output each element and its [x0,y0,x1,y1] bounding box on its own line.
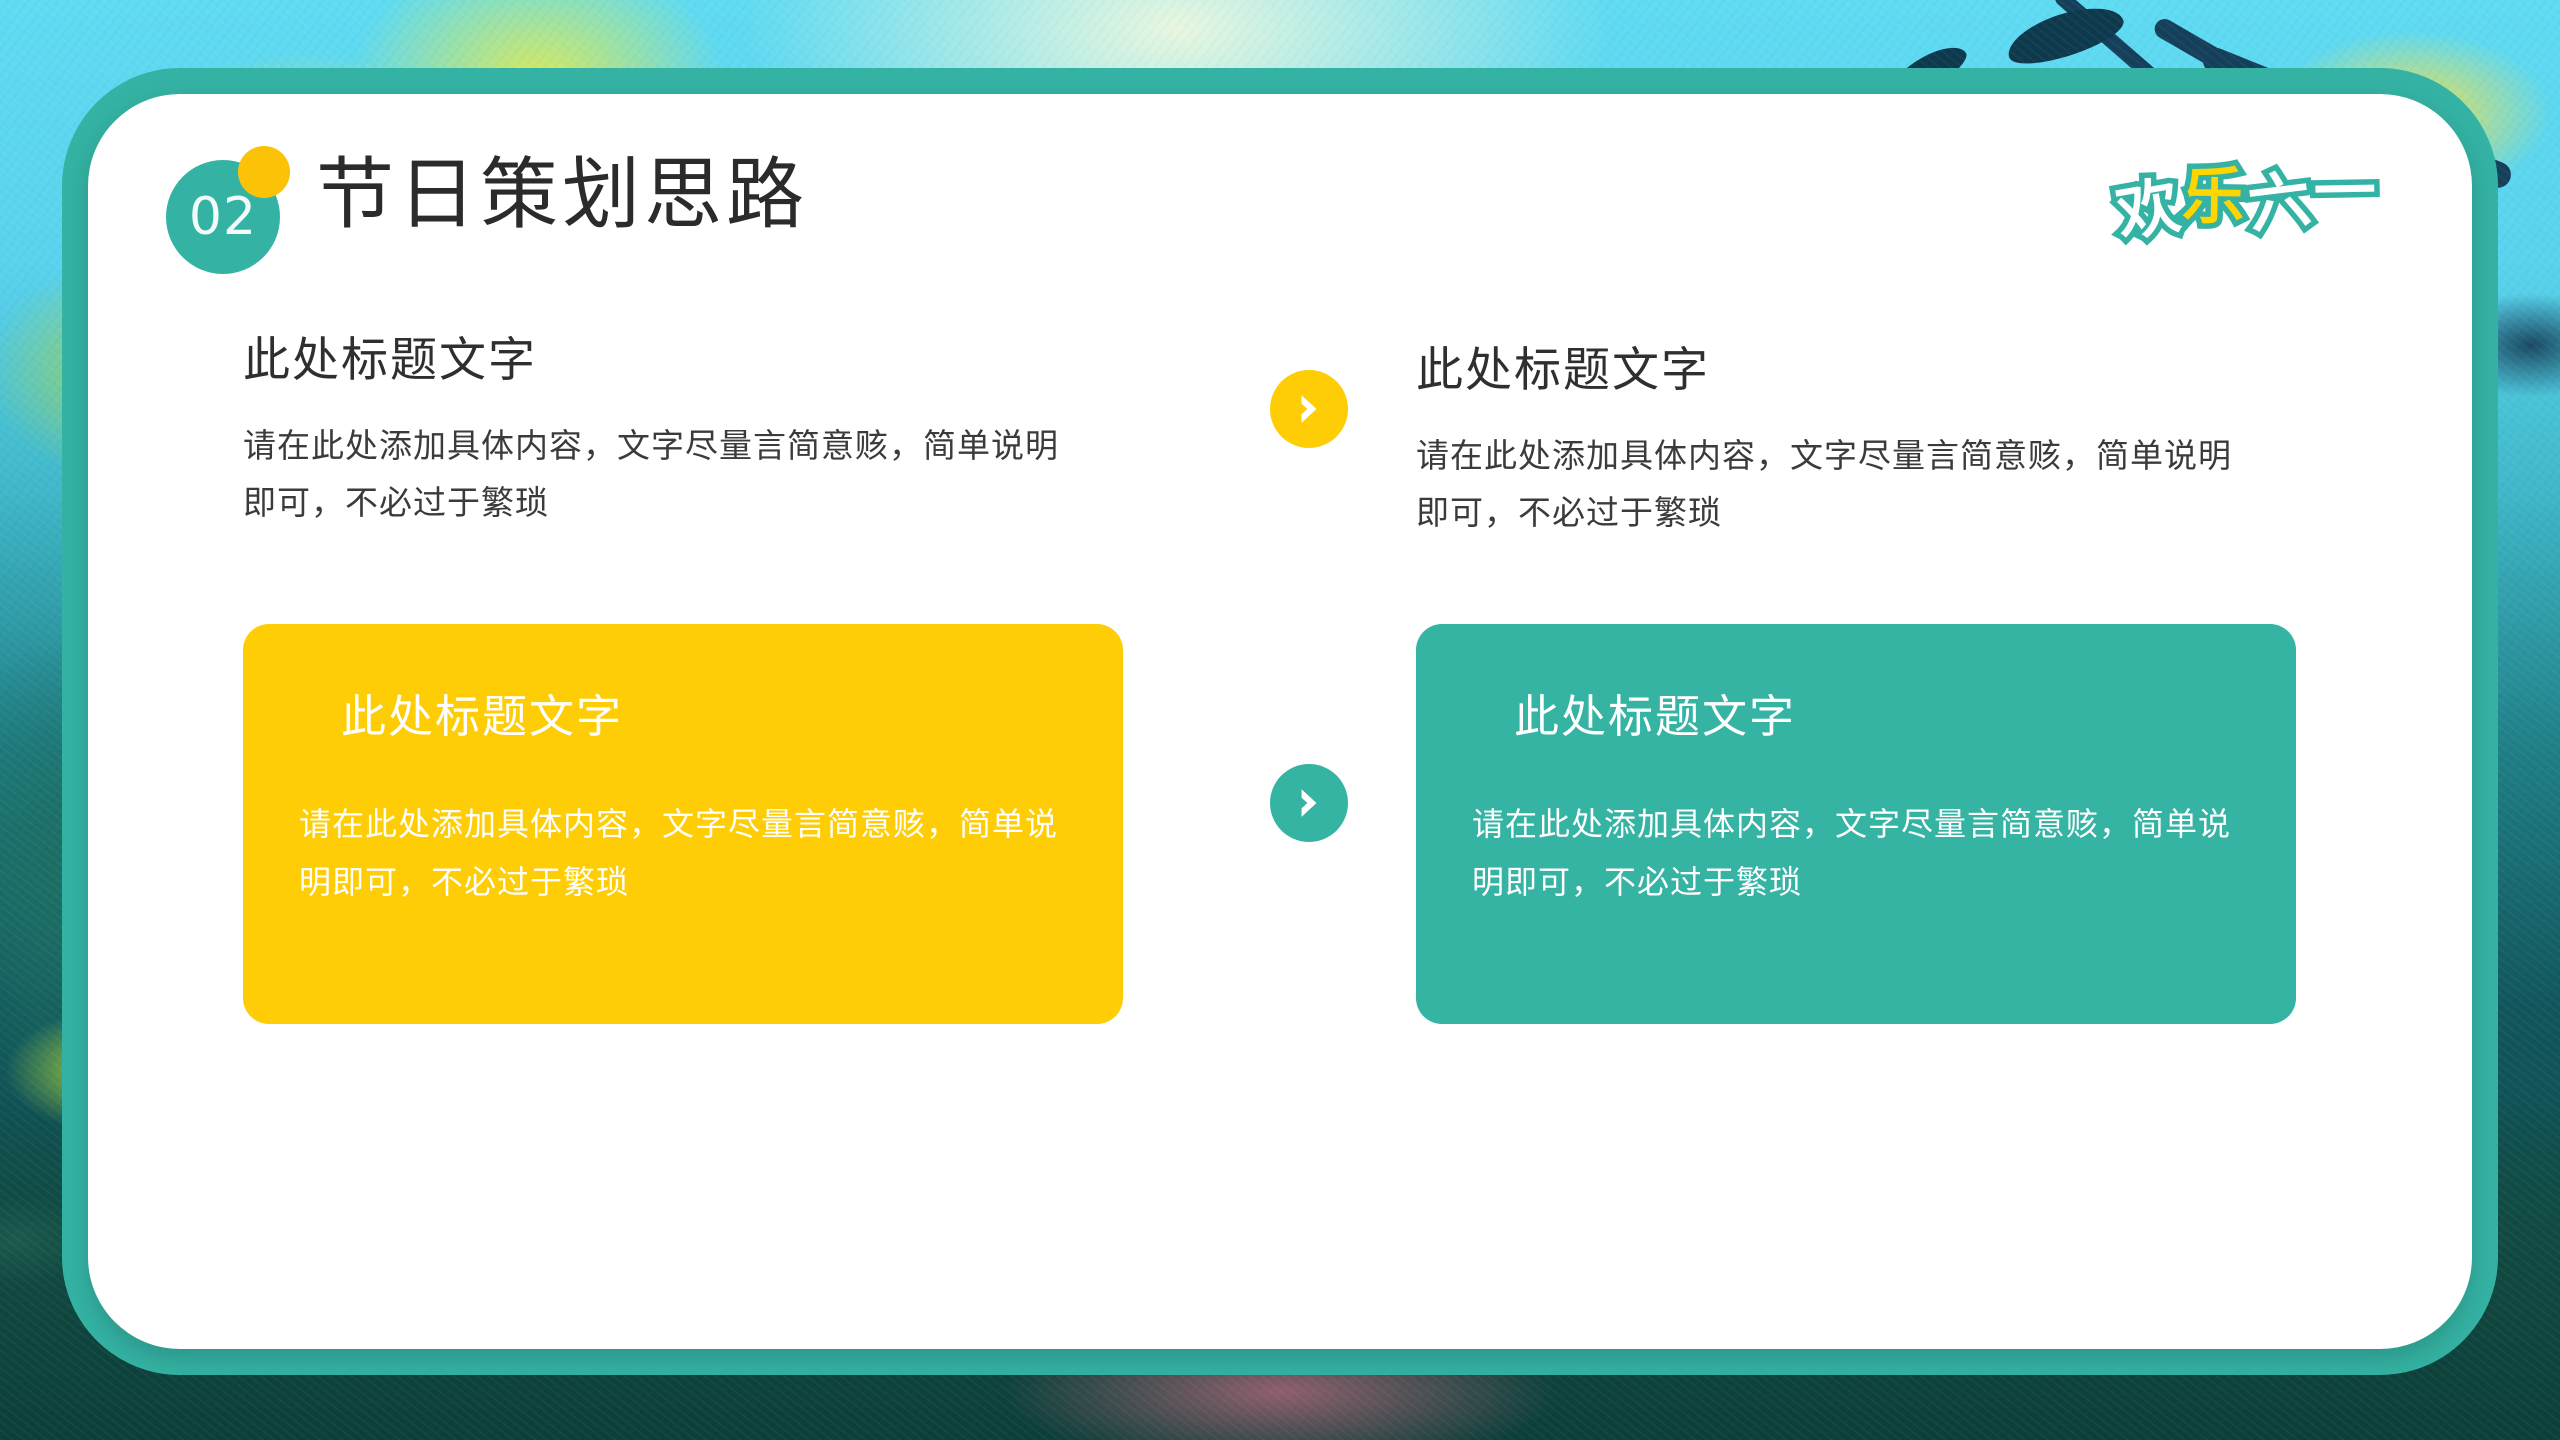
slide-header: 02 节日策划思路 欢 乐 六 一 [88,94,2472,284]
section-number-badge: 02 [166,146,296,276]
logo-char-1: 欢 [2112,175,2184,247]
highlight-card-yellow[interactable]: 此处标题文字 请在此处添加具体内容，文字尽量言简意赅，简单说明即可，不必过于繁琐 [243,624,1123,1024]
badge-accent-dot-icon [238,146,290,198]
text-block-body: 请在此处添加具体内容，文字尽量言简意赅，简单说明即可，不必过于繁琐 [1416,428,2246,542]
slide-root: 02 节日策划思路 欢 乐 六 一 此处标题文字 请在此处添加具体内容，文字尽量… [0,0,2560,1440]
content-row-top: 此处标题文字 请在此处添加具体内容，文字尽量言简意赅，简单说明即可，不必过于繁琐… [88,284,2472,584]
slide-content: 此处标题文字 请在此处添加具体内容，文字尽量言简意赅，简单说明即可，不必过于繁琐… [88,284,2472,1054]
chevron-right-icon [1292,392,1326,426]
chevron-right-icon [1292,786,1326,820]
content-card: 02 节日策划思路 欢 乐 六 一 此处标题文字 请在此处添加具体内容，文字尽量… [88,94,2472,1349]
highlight-card-teal[interactable]: 此处标题文字 请在此处添加具体内容，文字尽量言简意赅，简单说明即可，不必过于繁琐 [1416,624,2296,1024]
text-block-title: 此处标题文字 [1416,342,2296,398]
text-block-body: 请在此处添加具体内容，文字尽量言简意赅，简单说明即可，不必过于繁琐 [243,418,1073,532]
highlight-card-body: 请在此处添加具体内容，文字尽量言简意赅，简单说明即可，不必过于繁琐 [1472,796,2242,911]
logo-char-4: 一 [2313,161,2376,224]
badge-number: 02 [189,191,257,243]
event-logo: 欢 乐 六 一 [2113,141,2378,258]
page-title: 节日策划思路 [316,146,808,244]
text-block-top-left: 此处标题文字 请在此处添加具体内容，文字尽量言简意赅，简单说明即可，不必过于繁琐 [243,332,1123,532]
arrow-button-top[interactable] [1270,370,1348,448]
logo-char-2: 乐 [2182,166,2245,229]
highlight-card-title: 此处标题文字 [1514,690,2240,744]
text-block-title: 此处标题文字 [243,332,1123,388]
arrow-button-bottom[interactable] [1270,764,1348,842]
logo-char-3: 六 [2245,169,2314,238]
highlight-card-body: 请在此处添加具体内容，文字尽量言简意赅，简单说明即可，不必过于繁琐 [299,796,1069,911]
content-row-bottom: 此处标题文字 请在此处添加具体内容，文字尽量言简意赅，简单说明即可，不必过于繁琐… [88,584,2472,1054]
text-block-top-right: 此处标题文字 请在此处添加具体内容，文字尽量言简意赅，简单说明即可，不必过于繁琐 [1416,342,2296,542]
highlight-card-title: 此处标题文字 [341,690,1067,744]
